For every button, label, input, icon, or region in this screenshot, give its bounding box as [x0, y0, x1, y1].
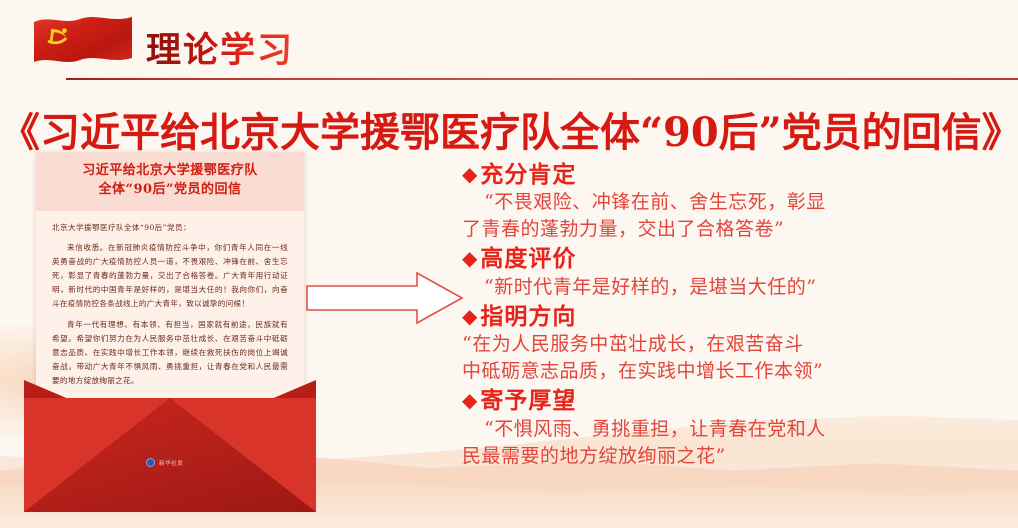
envelope-logo-label: 新华社发 [159, 459, 183, 467]
diamond-bullet-icon: ◆ [462, 388, 478, 414]
diamond-bullet-icon: ◆ [462, 246, 478, 272]
envelope-right-flap [170, 398, 316, 512]
section-quote: “新时代青年是好样的，是堪当大任的” [462, 274, 1010, 301]
quote-line: 了青春的蓬勃力量，交出了合格答卷” [462, 216, 1010, 243]
slide-header: 理论学习 [0, 0, 1018, 92]
key-points-list: ◆ 充分肯定 “不畏艰险、冲锋在前、舍生忘死，彰显 了青春的蓬勃力量，交出了合格… [462, 160, 1010, 471]
section-quote: “不惧风雨、勇挑重担，让青春在党和人 民最需要的地方绽放绚丽之花” [462, 416, 1010, 470]
cpc-flag-icon [32, 14, 136, 72]
quote-line: “新时代青年是好样的，是堪当大任的” [462, 274, 1010, 301]
letter-salutation: 北京大学援鄂医疗队全体“90后”党员： [52, 222, 288, 234]
diamond-bullet-icon: ◆ [462, 162, 478, 188]
section-quote: “在为人民服务中茁壮成长，在艰苦奋斗 中砥砺意志品质，在实践中增长工作本领” [462, 331, 1010, 385]
main-title: 《习近平给北京大学援鄂医疗队全体“90后”党员的回信》 [0, 100, 1018, 158]
header-divider [66, 78, 1018, 80]
section-item: ◆ 充分肯定 “不畏艰险、冲锋在前、舍生忘死，彰显 了青春的蓬勃力量，交出了合格… [462, 160, 1010, 243]
quote-line: “不畏艰险、冲锋在前、舍生忘死，彰显 [462, 189, 1010, 216]
right-arrow-icon [305, 270, 465, 326]
quote-line: 中砥砺意志品质，在实践中增长工作本领” [462, 358, 1010, 385]
section-heading-label: 指明方向 [480, 302, 576, 331]
envelope-logo: 新华社发 [146, 458, 183, 467]
agency-logo-icon [146, 458, 155, 467]
diamond-bullet-icon: ◆ [462, 304, 478, 330]
quote-line: 民最需要的地方绽放绚丽之花” [462, 443, 1010, 470]
section-quote: “不畏艰险、冲锋在前、舍生忘死，彰显 了青春的蓬勃力量，交出了合格答卷” [462, 189, 1010, 243]
letter-card-heading: 习近平给北京大学援鄂医疗队 全体“90后”党员的回信 [36, 152, 304, 211]
section-item: ◆ 高度评价 “新时代青年是好样的，是堪当大任的” [462, 244, 1010, 300]
letter-illustration: 习近平给北京大学援鄂医疗队 全体“90后”党员的回信 北京大学援鄂医疗队全体“9… [14, 152, 326, 512]
page-title: 理论学习 [146, 22, 294, 73]
section-item: ◆ 寄予厚望 “不惧风雨、勇挑重担，让青春在党和人 民最需要的地方绽放绚丽之花” [462, 386, 1010, 469]
letter-paragraph-2: 青年一代有理想、有本领、有担当，国家就有前途，民族就有希望。希望你们努力在为人民… [52, 318, 288, 388]
envelope-graphic: 新华社发 [24, 380, 316, 512]
letter-heading-line-2: 全体“90后”党员的回信 [48, 181, 292, 200]
letter-paragraph-1: 来信收悉。在新冠肺炎疫情防控斗争中，你们青年人同在一线英勇奋战的广大疫情防控人员… [52, 241, 288, 311]
section-heading: ◆ 寄予厚望 [462, 386, 1010, 415]
letter-body: 北京大学援鄂医疗队全体“90后”党员： 来信收悉。在新冠肺炎疫情防控斗争中，你们… [36, 211, 304, 389]
envelope-left-flap [24, 398, 170, 512]
section-heading: ◆ 高度评价 [462, 244, 1010, 273]
quote-line: “不惧风雨、勇挑重担，让青春在党和人 [462, 416, 1010, 443]
section-heading-label: 寄予厚望 [480, 386, 576, 415]
quote-line: “在为人民服务中茁壮成长，在艰苦奋斗 [462, 331, 1010, 358]
section-heading: ◆ 充分肯定 [462, 160, 1010, 189]
section-heading-label: 高度评价 [480, 244, 576, 273]
section-item: ◆ 指明方向 “在为人民服务中茁壮成长，在艰苦奋斗 中砥砺意志品质，在实践中增长… [462, 302, 1010, 385]
letter-heading-line-1: 习近平给北京大学援鄂医疗队 [48, 162, 292, 181]
section-heading-label: 充分肯定 [480, 160, 576, 189]
section-heading: ◆ 指明方向 [462, 302, 1010, 331]
